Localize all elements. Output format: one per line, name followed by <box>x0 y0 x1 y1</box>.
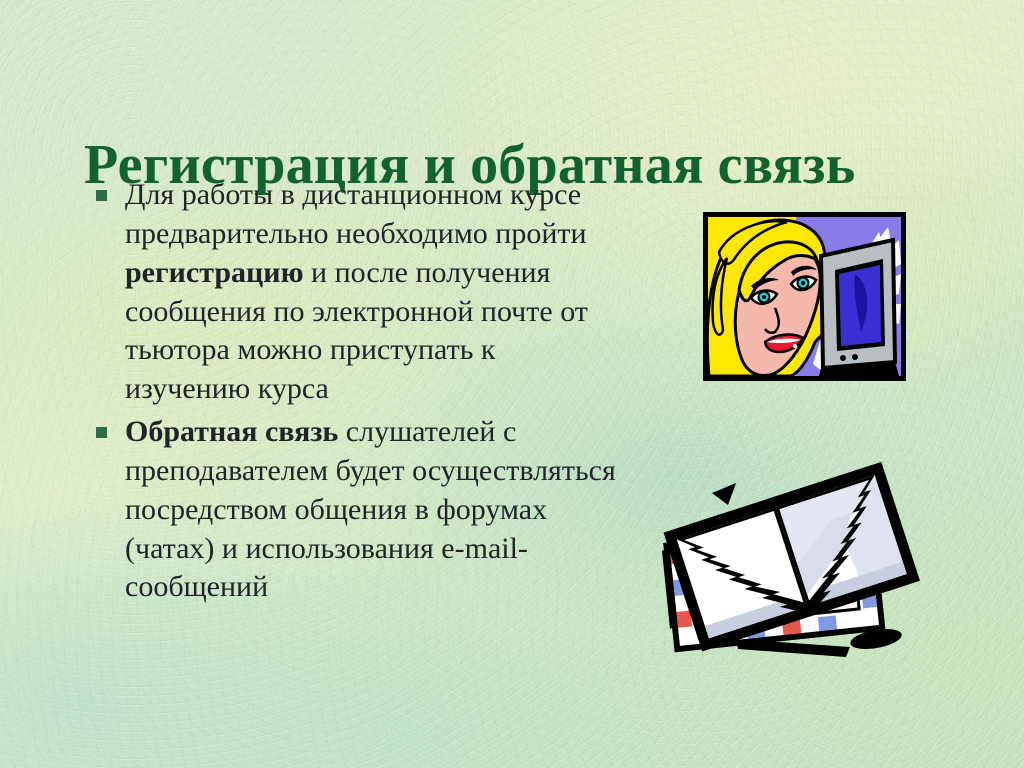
slide-body: Для работы в дистанционном курсе предвар… <box>96 176 616 611</box>
bullet-item-2-text: Обратная связь слушателей с преподавател… <box>125 413 616 607</box>
bullet-2-segment-1: Обратная связь <box>125 415 338 448</box>
bullet-1-segment-2: регистрацию <box>125 256 304 289</box>
square-bullet-icon <box>96 190 107 201</box>
envelopes-image <box>640 443 930 688</box>
bullet-item-2: Обратная связь слушателей с преподавател… <box>96 413 616 607</box>
presentation-slide: Регистрация и обратная связь Для работы … <box>0 0 1024 768</box>
bullet-1-segment-1: Для работы в дистанционном курсе предвар… <box>125 178 587 250</box>
bullet-item-1: Для работы в дистанционном курсе предвар… <box>96 176 616 409</box>
square-bullet-icon <box>96 427 107 438</box>
woman-at-computer-image <box>703 212 906 381</box>
bullet-item-1-text: Для работы в дистанционном курсе предвар… <box>125 176 616 409</box>
